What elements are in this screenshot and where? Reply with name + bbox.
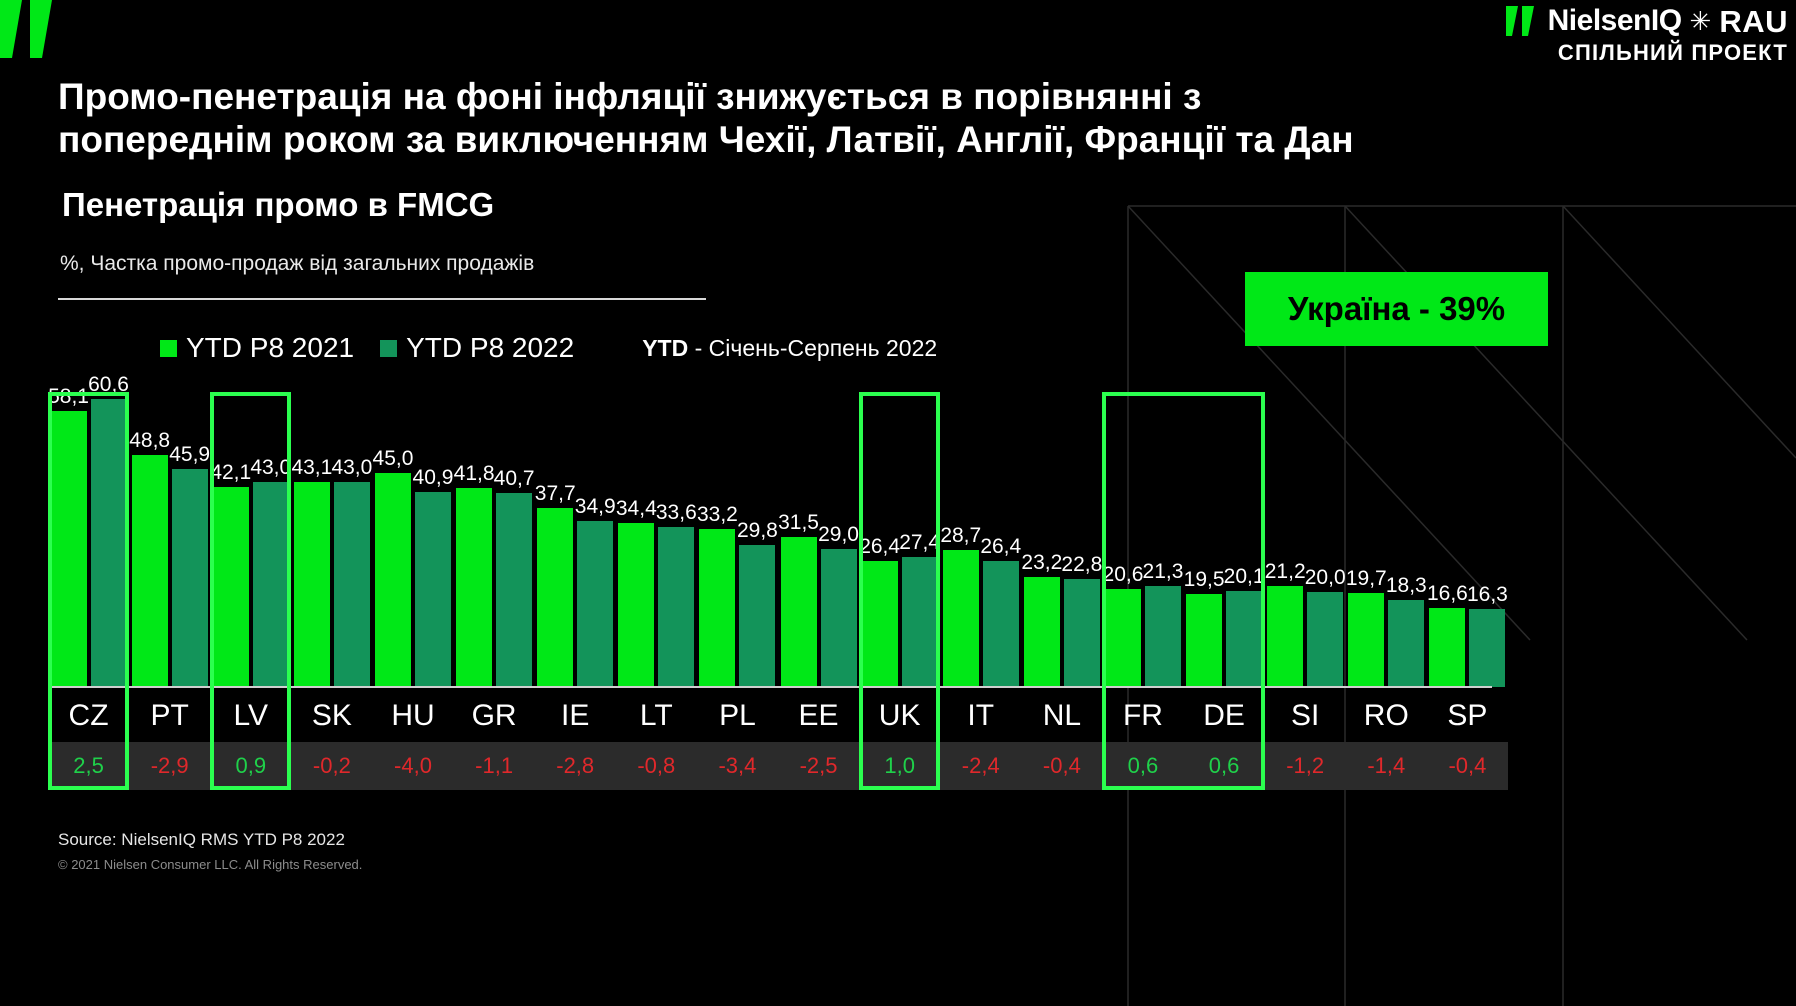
copyright-note: © 2021 Nielsen Consumer LLC. All Rights … [58,857,362,872]
category-label-hu: HU [372,690,453,742]
bar-2022[interactable] [739,545,775,687]
delta-value-it: -2,4 [940,742,1021,790]
bar-value-label: 16,3 [1467,583,1508,607]
bar-column: 40,7 [496,392,532,687]
nielseniq-logo-icon [1506,4,1540,38]
category-label-ee: EE [778,690,859,742]
bar-value-label: 26,4 [859,535,900,559]
bar-group[interactable]: 43,143,0 [291,392,372,687]
bar-2022[interactable] [1388,600,1424,687]
bar-value-label: 34,9 [575,495,616,519]
delta-value-ro: -1,4 [1346,742,1427,790]
delta-value-ie: -2,8 [535,742,616,790]
legend-label-2022: YTD P8 2022 [406,332,574,364]
bar-column: 41,8 [456,392,492,687]
bar-2021[interactable] [1348,593,1384,687]
page-title: Промо-пенетрація на фоні інфляції знижує… [58,76,1796,162]
legend-label-2021: YTD P8 2021 [186,332,354,364]
bar-column: 34,9 [577,392,613,687]
category-axis-labels: CZPTLVSKHUGRIELTPLEEUKITNLFRDESIROSP [48,690,1508,742]
bar-value-label: 40,7 [494,467,535,491]
rau-wordmark: RAU [1719,6,1788,37]
chart-title: Пенетрація промо в FMCG [62,186,494,224]
page-title-line-2: попереднім роком за виключенням Чехії, Л… [58,119,1796,162]
delta-value-pl: -3,4 [697,742,778,790]
bar-value-label: 40,9 [413,466,454,490]
delta-value-sk: -0,2 [291,742,372,790]
bar-value-label: 33,2 [697,503,738,527]
bar-column: 16,6 [1429,392,1465,687]
bar-column: 33,2 [699,392,735,687]
nielseniq-wordmark: NielsenIQ [1548,6,1682,36]
bar-group[interactable]: 19,718,3 [1346,392,1427,687]
bar-value-label: 19,7 [1346,567,1387,591]
bar-value-label: 20,1 [1224,565,1265,589]
nielseniq-corner-mark-icon [0,0,70,58]
chart-legend: YTD P8 2021 YTD P8 2022 YTD - Січень-Сер… [160,332,937,364]
bar-column: 29,0 [821,392,857,687]
bar-value-label: 19,5 [1184,568,1225,592]
bar-group[interactable]: 20,621,3 [1102,392,1183,687]
bar-value-label: 27,4 [899,531,940,555]
category-label-cz: CZ [48,690,129,742]
bar-2022[interactable] [1226,591,1262,687]
delta-value-sp: -0,4 [1427,742,1508,790]
ukraine-callout-badge[interactable]: Україна - 39% [1245,272,1548,346]
bar-value-label: 22,8 [1061,553,1102,577]
legend-swatch-2021 [160,340,177,357]
bar-value-label: 26,4 [980,535,1021,559]
bar-value-label: 45,9 [169,443,210,467]
delta-value-uk: 1,0 [859,742,940,790]
bar-group[interactable]: 41,840,7 [454,392,535,687]
bar-value-label: 28,7 [940,524,981,548]
bar-2021[interactable] [51,411,87,687]
delta-value-gr: -1,1 [454,742,535,790]
bar-2022[interactable] [902,557,938,687]
delta-value-cz: 2,5 [48,742,129,790]
category-label-pl: PL [697,690,778,742]
bar-2021[interactable] [1186,594,1222,687]
slide-root: NielsenIQ ✳ RAU СПІЛЬНИЙ ПРОЕКТ Промо-пе… [0,0,1796,1006]
bar-2022[interactable] [821,549,857,687]
bar-2021[interactable] [618,523,654,687]
bar-column: 37,7 [537,392,573,687]
bar-group[interactable]: 28,726,4 [940,392,1021,687]
bar-2021[interactable] [1267,586,1303,687]
bar-2022[interactable] [415,492,451,687]
legend-swatch-2022 [380,340,397,357]
bar-value-label: 41,8 [454,462,495,486]
category-label-it: IT [940,690,1021,742]
bar-value-label: 23,2 [1021,551,1062,575]
category-label-lv: LV [210,690,291,742]
bar-value-label: 29,0 [818,523,859,547]
bar-group[interactable]: 19,520,1 [1184,392,1265,687]
bar-value-label: 58,1 [48,385,89,409]
bar-value-label: 60,6 [88,373,129,397]
bar-group[interactable]: 58,160,6 [48,392,129,687]
bar-column: 21,3 [1145,392,1181,687]
brand-subtitle: СПІЛЬНИЙ ПРОЕКТ [1506,40,1788,66]
bar-2021[interactable] [537,508,573,687]
delta-value-si: -1,2 [1265,742,1346,790]
bar-group[interactable]: 26,427,4 [859,392,940,687]
legend-note-bold: YTD [642,335,688,361]
delta-value-lt: -0,8 [616,742,697,790]
delta-value-hu: -4,0 [372,742,453,790]
ukraine-callout-text: Україна - 39% [1288,290,1505,328]
bar-chart-plot-area: 58,160,648,845,942,143,043,143,045,040,9… [48,392,1508,687]
bar-2021[interactable] [132,455,168,687]
bar-column: 34,4 [618,392,654,687]
category-label-ro: RO [1346,690,1427,742]
bar-value-label: 43,1 [291,456,332,480]
bar-value-label: 34,4 [616,497,657,521]
category-label-pt: PT [129,690,210,742]
bar-2021[interactable] [294,482,330,687]
bar-column: 20,6 [1105,392,1141,687]
bar-2021[interactable] [1429,608,1465,687]
bar-column: 42,1 [213,392,249,687]
category-label-ie: IE [535,690,616,742]
bar-2022[interactable] [334,482,370,687]
bar-value-label: 43,0 [250,456,291,480]
bar-column: 22,8 [1064,392,1100,687]
bar-value-label: 20,0 [1305,566,1346,590]
category-label-uk: UK [859,690,940,742]
bar-2022[interactable] [172,469,208,687]
bar-column: 16,3 [1469,392,1505,687]
bar-column: 60,6 [91,392,127,687]
bar-value-label: 42,1 [210,461,251,485]
bar-column: 28,7 [943,392,979,687]
bar-group[interactable]: 37,734,9 [535,392,616,687]
bar-2021[interactable] [375,473,411,687]
brand-logos-row: NielsenIQ ✳ RAU [1506,4,1788,38]
delta-value-ee: -2,5 [778,742,859,790]
bar-group[interactable]: 45,040,9 [372,392,453,687]
bar-2022[interactable] [1307,592,1343,687]
delta-value-fr: 0,6 [1102,742,1183,790]
bar-chart: 58,160,648,845,942,143,043,143,045,040,9… [48,392,1508,687]
bar-column: 43,0 [334,392,370,687]
bar-2021[interactable] [781,537,817,687]
bar-2022[interactable] [577,521,613,687]
bar-value-label: 48,8 [129,429,170,453]
category-label-lt: LT [616,690,697,742]
delta-value-nl: -0,4 [1021,742,1102,790]
bar-2022[interactable] [1064,579,1100,687]
delta-values-row: 2,5-2,90,9-0,2-4,0-1,1-2,8-0,8-3,4-2,51,… [48,742,1508,790]
bar-column: 45,9 [172,392,208,687]
legend-item-2021[interactable]: YTD P8 2021 [160,332,354,364]
bar-2022[interactable] [658,527,694,687]
bar-group[interactable]: 42,143,0 [210,392,291,687]
bar-value-label: 21,2 [1265,560,1306,584]
bar-2021[interactable] [456,488,492,687]
bar-value-label: 16,6 [1427,582,1468,606]
bar-column: 26,4 [983,392,1019,687]
category-label-sk: SK [291,690,372,742]
bar-value-label: 43,0 [331,456,372,480]
category-label-fr: FR [1102,690,1183,742]
legend-note-rest: - Січень-Серпень 2022 [688,335,937,361]
category-label-sp: SP [1427,690,1508,742]
category-label-gr: GR [454,690,535,742]
bar-group[interactable]: 33,229,8 [697,392,778,687]
bar-column: 23,2 [1024,392,1060,687]
legend-note: YTD - Січень-Серпень 2022 [642,335,937,362]
bar-group[interactable]: 48,845,9 [129,392,210,687]
bar-column: 19,5 [1186,392,1222,687]
category-label-de: DE [1184,690,1265,742]
bar-2022[interactable] [496,493,532,687]
bar-group[interactable]: 34,433,6 [616,392,697,687]
bar-2021[interactable] [699,529,735,687]
brand-block: NielsenIQ ✳ RAU СПІЛЬНИЙ ПРОЕКТ [1506,4,1788,66]
bar-column: 33,6 [658,392,694,687]
bar-value-label: 37,7 [535,482,576,506]
snowflake-icon: ✳ [1690,8,1712,34]
bar-column: 20,0 [1307,392,1343,687]
bar-value-label: 21,3 [1143,560,1184,584]
bar-column: 48,8 [132,392,168,687]
bar-2022[interactable] [983,561,1019,687]
bar-column: 31,5 [781,392,817,687]
bar-2021[interactable] [943,550,979,687]
bar-value-label: 45,0 [373,447,414,471]
bar-column: 20,1 [1226,392,1262,687]
bar-value-label: 18,3 [1386,574,1427,598]
bar-column: 29,8 [739,392,775,687]
bar-column: 43,1 [294,392,330,687]
delta-value-de: 0,6 [1184,742,1265,790]
bar-2021[interactable] [1024,577,1060,687]
bar-group[interactable]: 23,222,8 [1021,392,1102,687]
bar-column: 45,0 [375,392,411,687]
source-note: Source: NielsenIQ RMS YTD P8 2022 [58,830,345,850]
bar-2022[interactable] [1469,609,1505,687]
delta-value-lv: 0,9 [210,742,291,790]
bar-value-label: 33,6 [656,501,697,525]
chart-subtitle: %, Частка промо-продаж від загальних про… [60,252,534,276]
bar-column: 43,0 [253,392,289,687]
delta-value-pt: -2,9 [129,742,210,790]
bar-group[interactable]: 21,220,0 [1265,392,1346,687]
bar-column: 26,4 [862,392,898,687]
page-title-line-1: Промо-пенетрація на фоні інфляції знижує… [58,76,1201,117]
category-label-nl: NL [1021,690,1102,742]
bar-value-label: 31,5 [778,511,819,535]
category-label-si: SI [1265,690,1346,742]
bar-group[interactable]: 31,529,0 [778,392,859,687]
bar-2022[interactable] [1145,586,1181,687]
bar-column: 21,2 [1267,392,1303,687]
bar-2021[interactable] [862,561,898,687]
bar-2021[interactable] [1105,589,1141,687]
bar-column: 40,9 [415,392,451,687]
bar-column: 27,4 [902,392,938,687]
bar-column: 18,3 [1388,392,1424,687]
bar-column: 19,7 [1348,392,1384,687]
legend-item-2022[interactable]: YTD P8 2022 [380,332,574,364]
divider [58,298,706,300]
bar-2022[interactable] [91,399,127,687]
bar-2022[interactable] [253,482,289,687]
chart-baseline [48,686,1492,688]
bar-column: 58,1 [51,392,87,687]
bar-group[interactable]: 16,616,3 [1427,392,1508,687]
bar-2021[interactable] [213,487,249,687]
bar-value-label: 20,6 [1103,563,1144,587]
bar-value-label: 29,8 [737,519,778,543]
